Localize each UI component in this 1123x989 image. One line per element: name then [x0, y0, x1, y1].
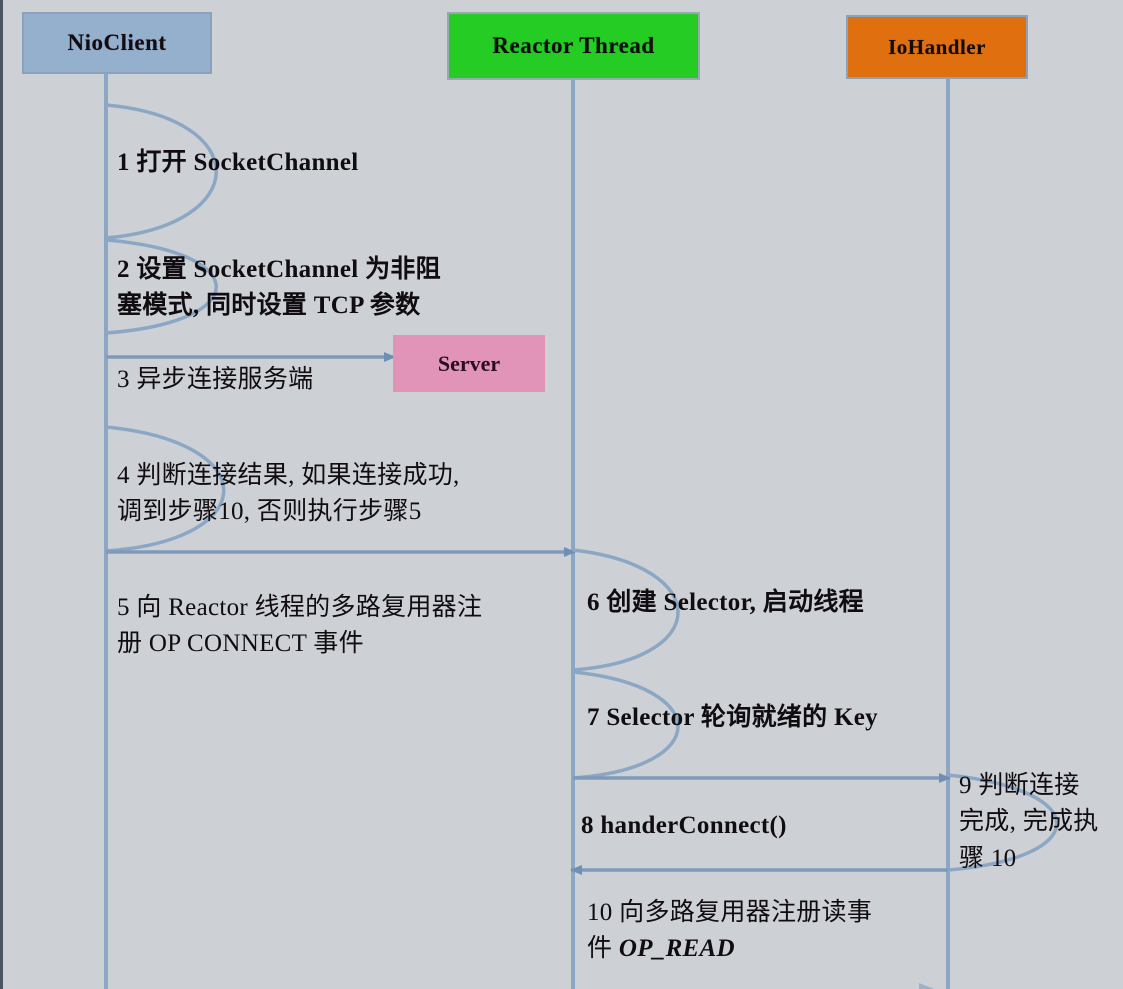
participant-reactor-thread[interactable]: Reactor Thread — [447, 12, 700, 80]
participant-nioclient[interactable]: NioClient — [22, 12, 212, 74]
participant-iohandler-label: IoHandler — [888, 35, 986, 60]
message-label-6: 6 创建 Selector, 启动线程 — [587, 585, 967, 621]
participant-iohandler[interactable]: IoHandler — [846, 15, 1028, 79]
message-label-8: 8 handerConnect() — [581, 808, 981, 844]
sequence-diagram: NioClient Reactor Thread IoHandler Serve… — [0, 0, 1123, 989]
participant-reactor-thread-label: Reactor Thread — [492, 33, 654, 59]
message-label-2: 2 设置 SocketChannel 为非阻 塞模式, 同时设置 TCP 参数 — [117, 252, 537, 325]
message-label-9: 9 判断连接 完成, 完成执 骤 10 — [959, 768, 1123, 877]
message-label-3: 3 异步连接服务端 — [117, 362, 447, 398]
message-label-5: 5 向 Reactor 线程的多路复用器注 册 OP CONNECT 事件 — [117, 590, 567, 663]
participant-nioclient-label: NioClient — [67, 30, 166, 56]
message-label-4: 4 判断连接结果, 如果连接成功, 调到步骤10, 否则执行步骤5 — [117, 458, 547, 531]
server-box-label: Server — [438, 351, 500, 377]
arrow-partial-bottom — [919, 983, 937, 989]
message-label-1: 1 打开 SocketChannel — [117, 145, 517, 181]
message-label-7: 7 Selector 轮询就绪的 Key — [587, 700, 967, 736]
message-label-10: 10 向多路复用器注册读事 件 OP_READ — [587, 895, 957, 968]
message-label-10-constant: OP_READ — [619, 935, 735, 962]
